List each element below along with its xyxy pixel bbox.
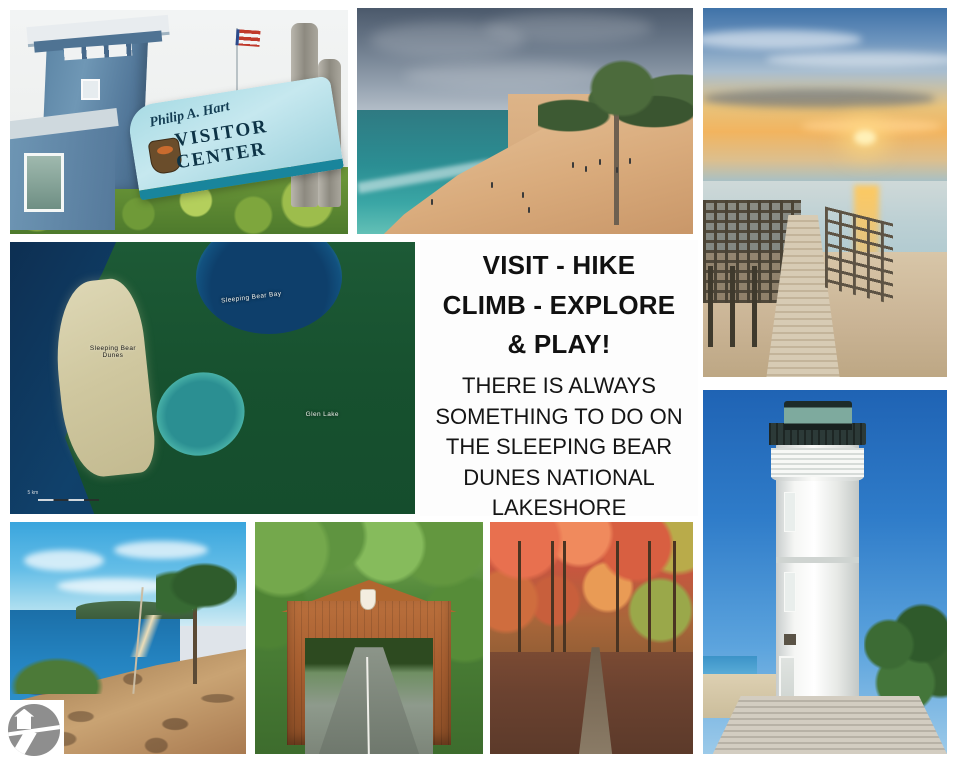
photo-sunset-boardwalk[interactable]	[703, 8, 947, 377]
map-label-glen-lake: Glen Lake	[306, 411, 339, 418]
body-line-3: THE SLEEPING BEAR	[446, 434, 672, 460]
hikers-group	[357, 110, 693, 234]
photo-dune-climb[interactable]	[357, 8, 693, 234]
dune-grass	[10, 657, 104, 694]
barn-shape	[17, 716, 30, 729]
photo-covered-bridge[interactable]	[255, 522, 483, 754]
setting-sun	[854, 130, 876, 145]
sunset-boardwalk-image	[703, 8, 947, 377]
headline-line-3: & PLAY!	[507, 329, 610, 360]
pine-tree	[156, 554, 236, 684]
us-flag-icon	[236, 29, 261, 46]
photo-collage: Philip A. Hart VISITOR CENTER	[0, 0, 955, 764]
cloud-1	[24, 550, 104, 571]
tower-window-lower	[784, 572, 796, 612]
photo-autumn-trail[interactable]	[490, 522, 693, 754]
cloud-streak-2	[766, 52, 947, 67]
autumn-trail-image	[490, 522, 693, 754]
lighthouse-image	[703, 390, 947, 754]
cloud-streak-1	[703, 30, 862, 48]
lantern-room	[784, 401, 852, 430]
tower-plaque	[784, 634, 796, 645]
shrub-vegetation	[864, 601, 947, 710]
visitor-center-image: Philip A. Hart VISITOR CENTER	[10, 10, 348, 234]
message-panel: VISIT - HIKE CLIMB - EXPLORE & PLAY! THE…	[420, 240, 698, 516]
cloud-2	[485, 13, 653, 42]
covered-bridge-image	[255, 522, 483, 754]
tower-window-upper	[784, 492, 796, 532]
tower-window-upper	[81, 79, 100, 99]
platform-posts	[708, 266, 771, 347]
boardwalk-railing	[825, 206, 893, 304]
body-line-1: THERE IS ALWAYS	[462, 373, 656, 399]
map-scale-bar: 5 km	[22, 481, 111, 505]
dune-climb-image	[357, 8, 693, 234]
barn-and-road-logo-icon	[8, 704, 60, 756]
map-label-sleeping-bear-dunes: Sleeping Bear Dunes	[83, 345, 143, 359]
watermark-logo	[4, 700, 64, 760]
satellite-map-image: Sleeping Bear Bay Sleeping Bear Dunes Gl…	[10, 242, 415, 514]
scale-bar-label: 5 km	[27, 490, 38, 496]
concrete-steps	[713, 696, 947, 754]
photo-satellite-map[interactable]: Sleeping Bear Bay Sleeping Bear Dunes Gl…	[10, 242, 415, 514]
tower-rings	[771, 448, 864, 477]
body-line-5: LAKESHORE	[492, 495, 627, 521]
photo-visitor-center[interactable]: Philip A. Hart VISITOR CENTER	[10, 10, 348, 234]
entrance-door	[24, 153, 65, 211]
tower-band	[776, 557, 859, 563]
photo-lighthouse[interactable]	[703, 390, 947, 754]
headline-line-2: CLIMB - EXPLORE	[443, 290, 676, 321]
body-line-4: DUNES NATIONAL	[463, 465, 655, 491]
cloud-streak-3	[703, 89, 935, 107]
body-line-2: SOMETHING TO DO ON	[435, 404, 682, 430]
nps-arrowhead-icon	[360, 589, 376, 610]
headline-line-1: VISIT - HIKE	[483, 250, 636, 281]
